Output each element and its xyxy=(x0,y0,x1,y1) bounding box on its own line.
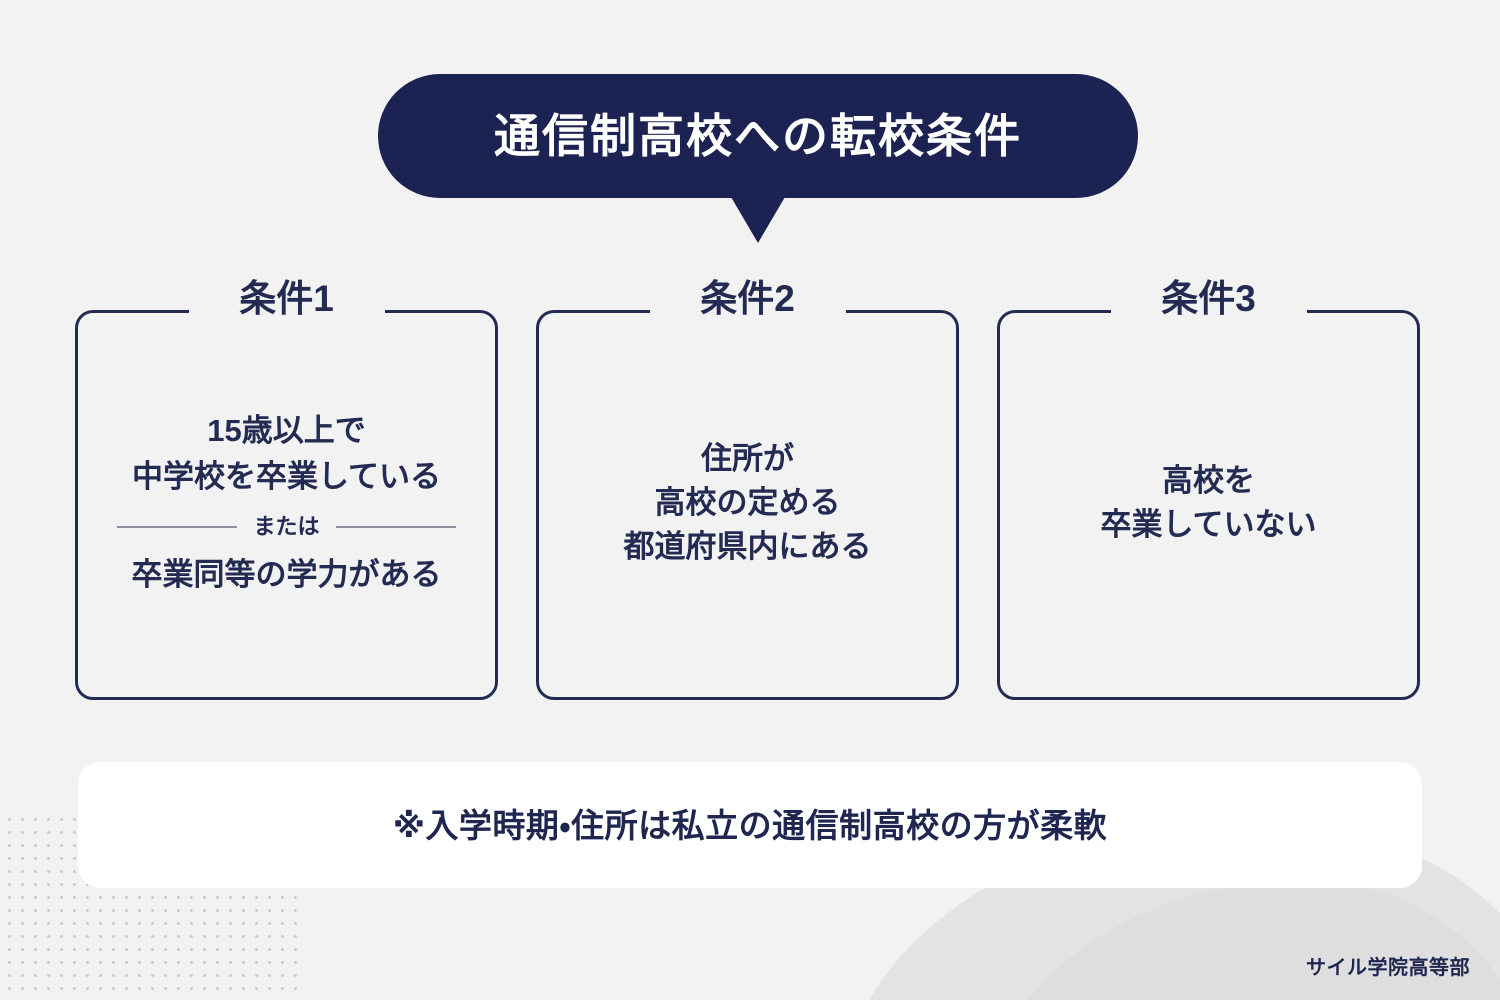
condition-label-1: 条件1 xyxy=(239,280,334,317)
or-divider-label: または xyxy=(237,516,335,538)
condition-1-line-2: 中学校を卒業している xyxy=(132,454,441,500)
condition-body-3: 高校を 卒業していない xyxy=(1018,459,1399,547)
condition-2-line-3: 都道府県内にある xyxy=(624,525,872,569)
condition-card-2: 条件2 住所が 高校の定める 都道府県内にある xyxy=(536,310,959,700)
condition-label-2: 条件2 xyxy=(700,280,795,317)
title-banner: 通信制高校への転校条件 xyxy=(378,74,1138,198)
infographic-canvas: 通信制高校への転校条件 条件1 15歳以上で 中学校を卒業している または 卒業… xyxy=(0,0,1500,1000)
footnote-text: ※入学時期・住所は私立の通信制高校の方が柔軟 xyxy=(393,809,1107,842)
condition-card-3: 条件3 高校を 卒業していない xyxy=(997,310,1420,700)
condition-1-line-1: 15歳以上で xyxy=(207,408,365,454)
or-divider: または xyxy=(96,516,477,538)
or-divider-rule-left xyxy=(117,526,237,528)
condition-card-1: 条件1 15歳以上で 中学校を卒業している または 卒業同等の学力がある xyxy=(75,310,498,700)
condition-2-line-2: 高校の定める xyxy=(655,481,841,525)
condition-3-line-2: 卒業していない xyxy=(1100,503,1316,547)
condition-1-line-3: 卒業同等の学力がある xyxy=(132,552,442,598)
conditions-row: 条件1 15歳以上で 中学校を卒業している または 卒業同等の学力がある 条件2… xyxy=(75,310,1420,700)
condition-body-1: 15歳以上で 中学校を卒業している または 卒業同等の学力がある xyxy=(96,408,477,598)
condition-label-3: 条件3 xyxy=(1161,280,1256,317)
banner-pointer-triangle xyxy=(731,197,785,243)
condition-3-line-1: 高校を xyxy=(1162,459,1255,503)
footnote-card: ※入学時期・住所は私立の通信制高校の方が柔軟 xyxy=(78,762,1422,888)
page-title: 通信制高校への転校条件 xyxy=(494,113,1022,159)
condition-body-2: 住所が 高校の定める 都道府県内にある xyxy=(557,437,938,569)
title-banner-pill: 通信制高校への転校条件 xyxy=(378,74,1138,198)
or-divider-rule-right xyxy=(336,526,456,528)
condition-2-line-1: 住所が xyxy=(701,437,794,481)
brand-credit: サイル学院高等部 xyxy=(1306,958,1470,978)
